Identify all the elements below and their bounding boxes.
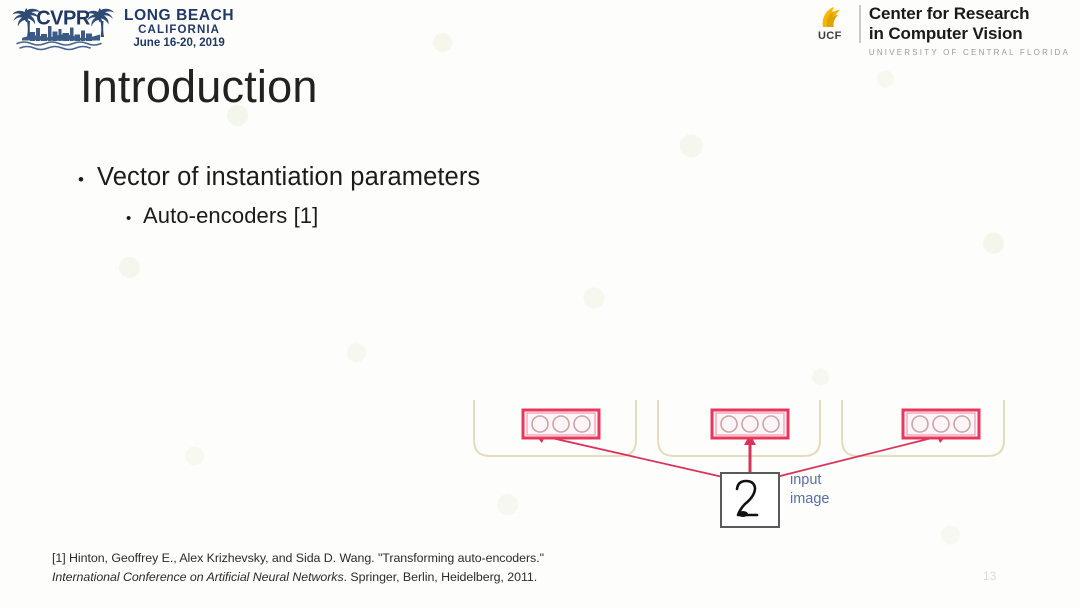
ucf-wordmark: UCF <box>809 30 851 42</box>
cvpr-dates: June 16-20, 2019 <box>124 37 234 49</box>
bullet-level2: • Auto-encoders [1] <box>78 203 838 229</box>
cvpr-city: LONG BEACH <box>124 8 234 25</box>
input-image-label-line2: image <box>790 490 830 509</box>
input-image-label-line1: input <box>790 471 830 490</box>
crcv-title-line1: Center for Research <box>869 4 1070 24</box>
bullet-list: • Vector of instantiation parameters • A… <box>78 163 838 229</box>
ucf-pegasus-icon <box>809 5 851 29</box>
crcv-text-block: Center for Research in Computer Vision U… <box>869 3 1070 57</box>
neuron-box-middle <box>712 410 788 438</box>
svg-text:CVPR: CVPR <box>36 8 91 30</box>
cvpr-logo: CVPR <box>8 4 234 52</box>
bullet-level1: • Vector of instantiation parameters <box>78 163 838 192</box>
ucf-logo-block: UCF <box>809 3 851 42</box>
neuron-box-right <box>903 410 979 438</box>
crcv-divider <box>859 5 861 43</box>
input-image-label: input image <box>790 471 830 509</box>
transforming-autoencoder-diagram: input image <box>460 398 1020 538</box>
citation-line-2: International Conference on Artificial N… <box>52 568 544 587</box>
bullet-level2-label: Auto-encoders [1] <box>143 203 318 229</box>
crcv-logo: UCF Center for Research in Computer Visi… <box>809 3 1070 57</box>
cvpr-state: CALIFORNIA <box>124 24 234 36</box>
neuron-boxes <box>523 410 979 438</box>
citation-publisher: . Springer, Berlin, Heidelberg, 2011. <box>344 570 538 584</box>
cvpr-event-text: LONG BEACH CALIFORNIA June 16-20, 2019 <box>124 7 234 50</box>
digit-ink-blob <box>738 511 748 517</box>
citation-block: [1] Hinton, Geoffrey E., Alex Krizhevsky… <box>52 549 544 587</box>
neuron-box-left <box>523 410 599 438</box>
crcv-title-line2: in Computer Vision <box>869 24 1070 44</box>
slide-canvas: CVPR <box>0 0 1080 608</box>
citation-line-1: [1] Hinton, Geoffrey E., Alex Krizhevsky… <box>52 549 544 568</box>
bullet-dot-icon: • <box>126 211 143 226</box>
bullet-level1-label: Vector of instantiation parameters <box>97 163 480 192</box>
input-image-box <box>721 473 779 527</box>
citation-venue: International Conference on Artificial N… <box>52 570 344 584</box>
page-title: Introduction <box>80 61 318 113</box>
page-number: 13 <box>983 569 996 583</box>
cvpr-palm-skyline-logo-icon: CVPR <box>8 4 118 52</box>
crcv-subtitle: UNIVERSITY OF CENTRAL FLORIDA <box>869 48 1070 57</box>
bullet-dot-icon: • <box>78 171 97 188</box>
